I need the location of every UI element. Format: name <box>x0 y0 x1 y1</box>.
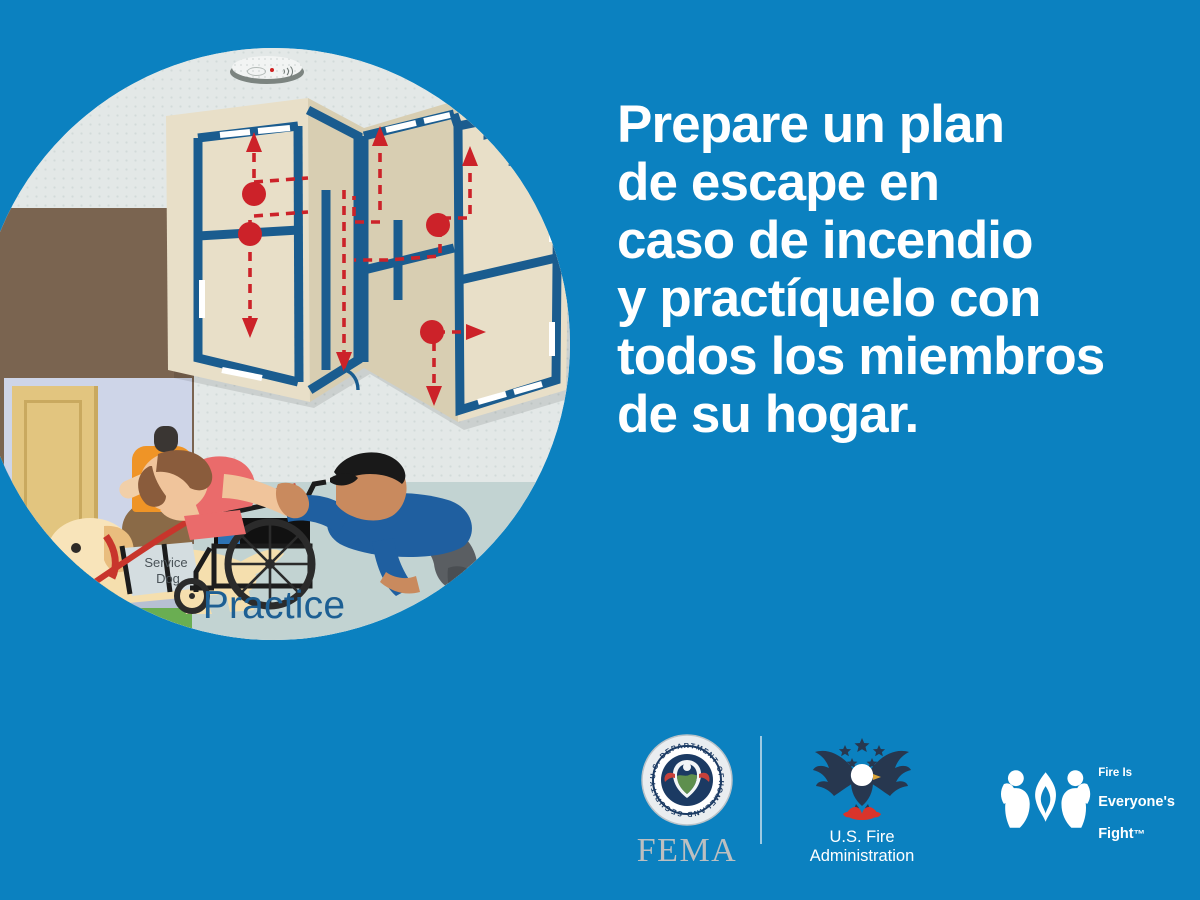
fire-is-everyones-fight-logo: Fire Is Everyone's Fight™ <box>1000 752 1175 843</box>
fema-wordmark: FEMA <box>622 832 752 870</box>
usfa-wordmark: U.S. Fire Administration <box>782 828 942 867</box>
service-dog-vest-line1: Service <box>144 555 187 570</box>
feef-line1: Fire Is <box>1098 767 1132 779</box>
feef-figures-icon <box>1000 766 1091 830</box>
usfa-flames-icon <box>843 807 881 820</box>
footer-divider <box>760 736 762 844</box>
feef-wordmark: Fire Is Everyone's Fight™ <box>1098 752 1175 843</box>
usfa-eagle-icon <box>807 730 917 822</box>
feef-line3: Fight <box>1098 826 1133 842</box>
feef-line2: Everyone's <box>1098 794 1175 810</box>
illustration-circle: Service Dog <box>0 48 570 640</box>
page-headline: Prepare un plan de escape en caso de inc… <box>617 96 1177 444</box>
psa-poster: Service Dog <box>0 0 1200 900</box>
usfa-logo: U.S. Fire Administration <box>782 730 942 867</box>
footer-logos: U.S. DEPARTMENT OF HOMELAND SECURITY FEM… <box>600 726 1170 866</box>
people-group: Service Dog <box>0 48 570 640</box>
fema-logo: U.S. DEPARTMENT OF HOMELAND SECURITY FEM… <box>622 734 752 870</box>
feef-trademark: ™ <box>1134 829 1146 841</box>
practice-caption: Practice <box>0 584 570 628</box>
dhs-seal-icon: U.S. DEPARTMENT OF HOMELAND SECURITY <box>641 734 733 826</box>
